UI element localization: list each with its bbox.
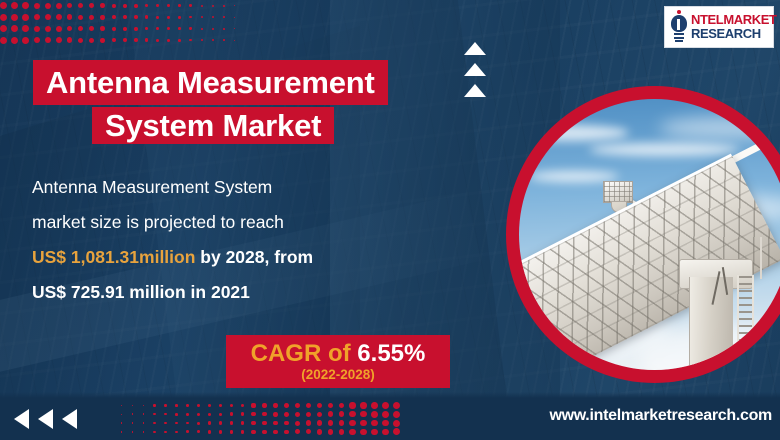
body-line-3-rest: by 2028, from [195, 247, 313, 267]
page-title-line-2: System Market [92, 107, 334, 144]
body-line-1: Antenna Measurement System [32, 170, 432, 205]
cagr-value: 6.55% [357, 340, 425, 367]
logo-text-line-1: NTELMARKET [691, 13, 777, 27]
market-value-2028: US$ 1,081.31million [32, 247, 195, 267]
dot-matrix-icon [118, 402, 408, 438]
infographic-banner: Antenna Measurement System Market Antenn… [0, 0, 780, 440]
cagr-badge: CAGR of 6.55% (2022-2028) [226, 335, 450, 388]
page-title-line-1: Antenna Measurement [33, 60, 388, 105]
triangle-left-icon [14, 409, 98, 429]
brand-logo[interactable]: NTELMARKET RESEARCH [664, 6, 774, 48]
cagr-label: CAGR of [251, 340, 358, 367]
cagr-headline: CAGR of 6.55% [251, 341, 426, 367]
body-line-3: US$ 1,081.31million by 2028, from [32, 240, 432, 275]
website-url[interactable]: www.intelmarketresearch.com [549, 407, 772, 425]
market-value-2021: US$ 725.91 million in 2021 [32, 275, 432, 310]
dot-matrix-icon [0, 2, 250, 50]
triangle-up-icon [464, 42, 488, 98]
footer-bar: www.intelmarketresearch.com [0, 398, 780, 440]
logo-text-line-2: RESEARCH [691, 27, 777, 41]
satellite-dish-photo [506, 86, 780, 383]
market-summary-text: Antenna Measurement System market size i… [32, 170, 432, 310]
cagr-period: (2022-2028) [301, 367, 375, 383]
body-line-2: market size is projected to reach [32, 205, 432, 240]
lightbulb-icon [670, 10, 688, 44]
